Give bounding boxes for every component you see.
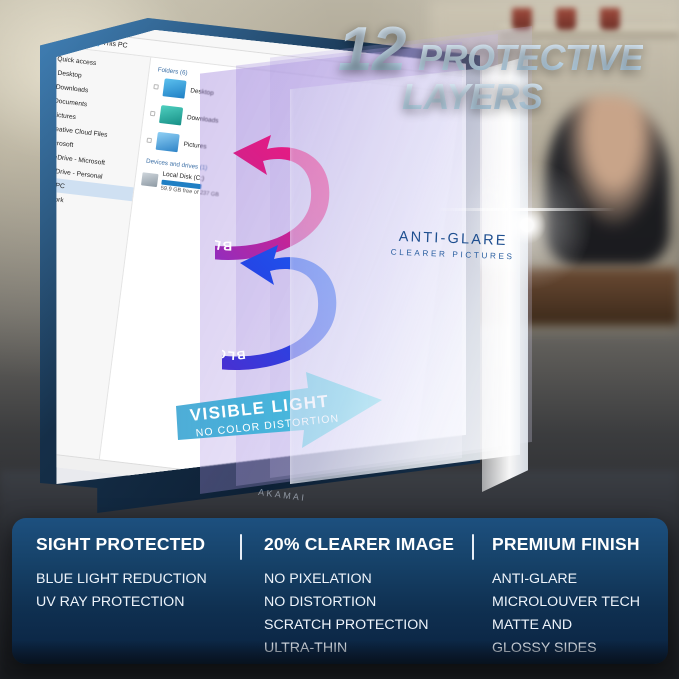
lens-flare-streak	[436, 208, 616, 211]
anti-glare-callout: ANTI-GLARE CLEARER PICTURES	[378, 228, 529, 262]
folder-icon	[159, 105, 183, 125]
feature-item: BLUE LIGHT REDUCTION	[36, 571, 242, 587]
headline-number: 12	[338, 20, 406, 80]
folder-icon	[162, 78, 186, 98]
sidebar-label: Microsoft	[54, 138, 74, 148]
svg-text:BLOCKS BLUE LIGHT: BLOCKS BLUE LIGHT	[222, 251, 246, 363]
sidebar-label: Documents	[54, 97, 88, 108]
item-checkbox[interactable]	[150, 110, 156, 116]
drive-icon	[141, 172, 159, 187]
sidebar-label: Downloads	[55, 83, 88, 94]
feature-item: NO PIXELATION	[264, 571, 470, 587]
sidebar-label: Desktop	[57, 69, 82, 79]
lens-flare	[452, 150, 602, 300]
feature-item: MICROLOUVER TECH	[492, 594, 668, 610]
headline-word-layers: LAYERS	[402, 80, 674, 115]
folder-icon	[156, 132, 180, 152]
feature-item: UV RAY PROTECTION	[36, 594, 242, 610]
blocks-blue-light-label: BLOCKS BLUE LIGHT	[222, 251, 246, 363]
sidebar-label: Pictures	[54, 111, 76, 121]
headline: 12 PROTECTIVE LAYERS	[338, 20, 674, 114]
panel-bottom-fade	[12, 640, 668, 664]
monitor-brand-label: AKAMAI	[258, 487, 307, 503]
headline-word-protective: PROTECTIVE	[418, 41, 643, 76]
feature-item: MATTE AND	[492, 617, 668, 633]
blocks-uv-light-label: BLOCKS UV LIGHT	[215, 141, 232, 254]
item-checkbox[interactable]	[153, 84, 159, 90]
sidebar-label: Quick access	[57, 55, 97, 67]
item-checkbox[interactable]	[147, 137, 153, 143]
column-heading: SIGHT PROTECTED	[36, 534, 242, 555]
feature-item: ANTI-GLARE	[492, 571, 668, 587]
feature-item: NO DISTORTION	[264, 594, 470, 610]
column-heading: PREMIUM FINISH	[492, 534, 668, 555]
product-marketing-image: This PC File Computer View ← → ▾ ↑ This …	[0, 0, 679, 679]
svg-text:BLOCKS UV LIGHT: BLOCKS UV LIGHT	[215, 141, 232, 254]
column-heading: 20% CLEARER IMAGE	[264, 534, 470, 555]
feature-item: SCRATCH PROTECTION	[264, 617, 470, 633]
